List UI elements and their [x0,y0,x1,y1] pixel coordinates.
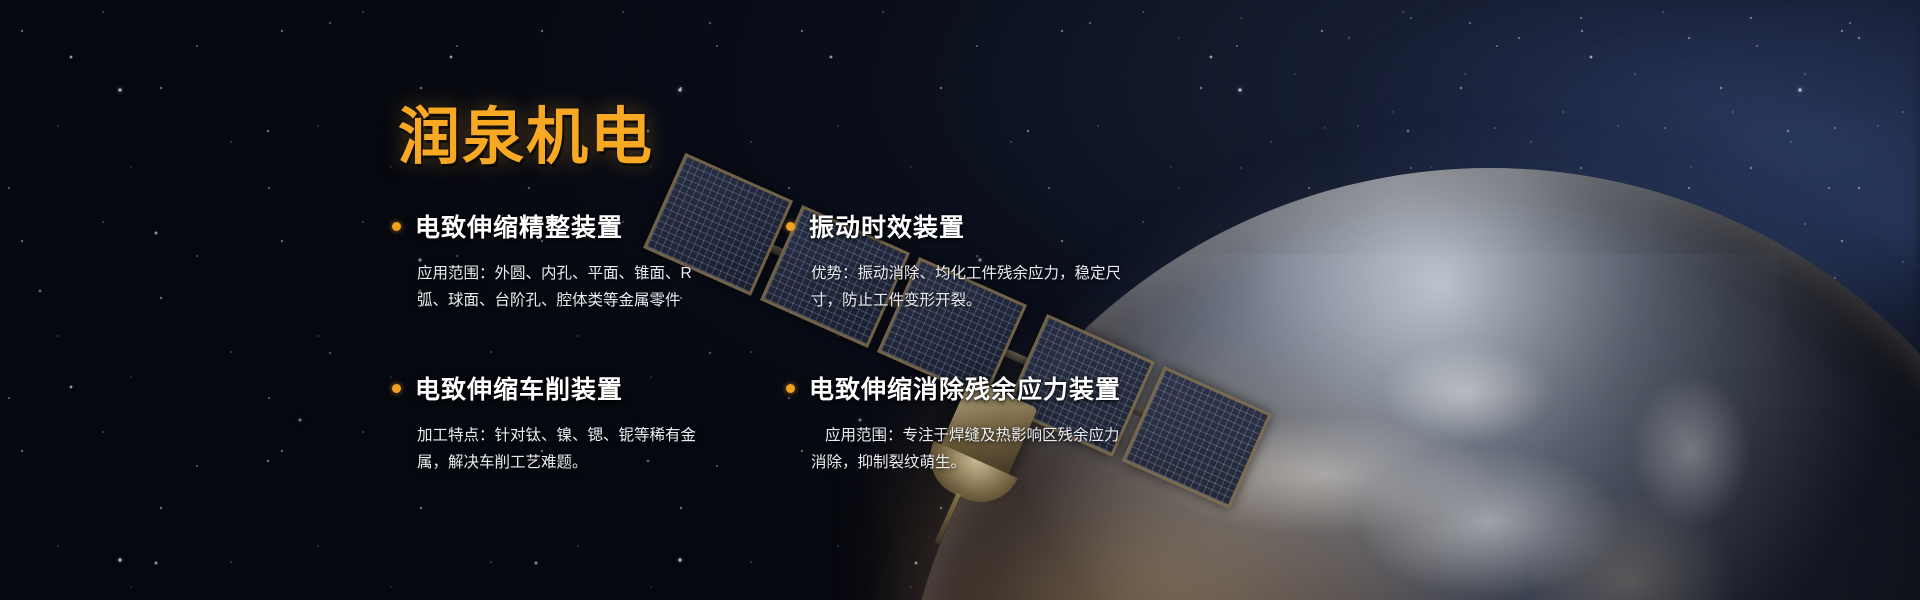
feature-heading: 电致伸缩精整装置 [392,208,772,244]
feature-description: 应用范围：外圆、内孔、平面、锥面、R弧、球面、台阶孔、腔体类等金属零件 [417,260,717,314]
brand-title: 润泉机电 [398,86,654,176]
bullet-dot-icon [786,222,795,231]
banner-content: 润泉机电 电致伸缩精整装置 应用范围：外圆、内孔、平面、锥面、R弧、球面、台阶孔… [0,0,1200,600]
bullet-dot-icon [392,384,401,393]
feature-item[interactable]: 电致伸缩车削装置 加工特点：针对钛、镍、锶、铌等稀有金属，解决车削工艺难题。 [392,370,772,476]
feature-column-left: 电致伸缩精整装置 应用范围：外圆、内孔、平面、锥面、R弧、球面、台阶孔、腔体类等… [392,208,772,476]
hero-banner: 润泉机电 电致伸缩精整装置 应用范围：外圆、内孔、平面、锥面、R弧、球面、台阶孔… [0,0,1920,600]
feature-description: 应用范围：专注于焊缝及热影响区残余应力消除，抑制裂纹萌生。 [811,422,1131,476]
feature-title: 电致伸缩车削装置 [415,370,623,406]
feature-item[interactable]: 电致伸缩精整装置 应用范围：外圆、内孔、平面、锥面、R弧、球面、台阶孔、腔体类等… [392,208,772,314]
feature-title: 振动时效装置 [809,208,965,244]
bullet-dot-icon [392,222,401,231]
feature-title: 电致伸缩精整装置 [415,208,623,244]
feature-heading: 振动时效装置 [786,208,1186,244]
feature-heading: 电致伸缩车削装置 [392,370,772,406]
feature-item[interactable]: 振动时效装置 优势：振动消除、均化工件残余应力，稳定尺寸，防止工件变形开裂。 [786,208,1186,314]
feature-heading: 电致伸缩消除残余应力装置 [786,370,1186,406]
feature-column-right: 振动时效装置 优势：振动消除、均化工件残余应力，稳定尺寸，防止工件变形开裂。 电… [786,208,1186,476]
feature-description: 加工特点：针对钛、镍、锶、铌等稀有金属，解决车削工艺难题。 [417,422,717,476]
feature-description: 优势：振动消除、均化工件残余应力，稳定尺寸，防止工件变形开裂。 [811,260,1131,314]
feature-item[interactable]: 电致伸缩消除残余应力装置 应用范围：专注于焊缝及热影响区残余应力消除，抑制裂纹萌… [786,370,1186,476]
bullet-dot-icon [786,384,795,393]
column-spacer [392,354,772,370]
feature-title: 电致伸缩消除残余应力装置 [809,370,1121,406]
column-spacer [786,354,1186,370]
